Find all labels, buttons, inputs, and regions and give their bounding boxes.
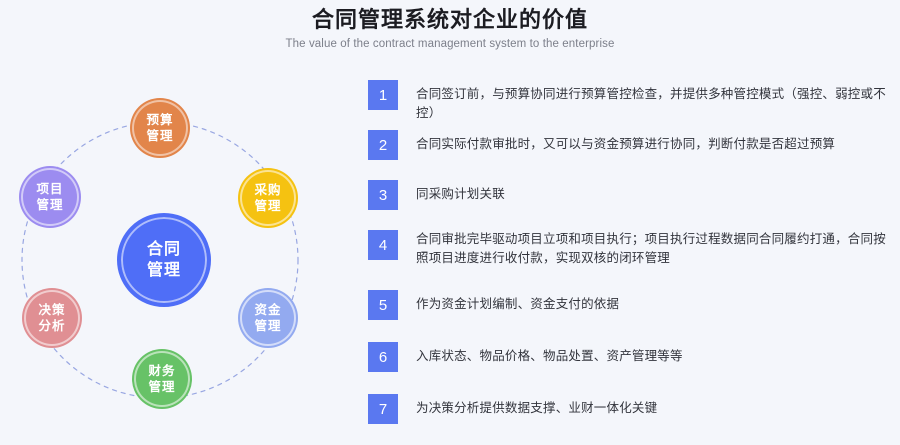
- item-description: 入库状态、物品价格、物品处置、资产管理等等: [416, 342, 683, 366]
- node-label-line1: 资金: [254, 302, 281, 318]
- node-label-line1: 决策: [38, 302, 65, 318]
- item-number-badge: 6: [368, 342, 398, 372]
- item-description: 合同签订前，与预算协同进行预算管控检查，并提供多种管控模式（强控、弱控或不控）: [416, 80, 886, 123]
- item-number-badge: 4: [368, 230, 398, 260]
- item-description: 作为资金计划编制、资金支付的依据: [416, 290, 619, 314]
- item-number-badge: 5: [368, 290, 398, 320]
- list-item[interactable]: 1 合同签订前，与预算协同进行预算管控检查，并提供多种管控模式（强控、弱控或不控…: [368, 80, 888, 123]
- node-funds-management[interactable]: 资金 管理: [240, 290, 296, 346]
- item-description: 同采购计划关联: [416, 180, 505, 204]
- node-label-line2: 管理: [146, 128, 173, 144]
- item-description: 合同实际付款审批时，又可以与资金预算进行协同，判断付款是否超过预算: [416, 130, 835, 154]
- node-label-line2: 管理: [254, 318, 281, 334]
- list-item[interactable]: 5 作为资金计划编制、资金支付的依据: [368, 290, 888, 320]
- node-purchase-management[interactable]: 采购 管理: [240, 170, 296, 226]
- circular-diagram: 项目 管理 预算 管理 采购 管理 资金 管理 财务 管理 决策 分析 合同 管…: [0, 78, 340, 445]
- item-number-badge: 3: [368, 180, 398, 210]
- page-subtitle: The value of the contract management sys…: [0, 33, 900, 51]
- node-decision-analysis[interactable]: 决策 分析: [24, 290, 80, 346]
- list-item[interactable]: 4 合同审批完毕驱动项目立项和项目执行；项目执行过程数据同合同履约打通，合同按照…: [368, 230, 888, 268]
- list-item[interactable]: 6 入库状态、物品价格、物品处置、资产管理等等: [368, 342, 888, 372]
- list-item[interactable]: 2 合同实际付款审批时，又可以与资金预算进行协同，判断付款是否超过预算: [368, 130, 888, 160]
- page-title: 合同管理系统对企业的价值: [0, 0, 900, 33]
- node-label-line1: 财务: [148, 363, 175, 379]
- node-label-line1: 采购: [254, 182, 281, 198]
- node-label-line2: 管理: [148, 379, 175, 395]
- item-number-badge: 7: [368, 394, 398, 424]
- node-label-line1: 合同: [147, 239, 181, 260]
- node-contract-management-center[interactable]: 合同 管理: [117, 213, 211, 307]
- list-item[interactable]: 3 同采购计划关联: [368, 180, 888, 210]
- node-label-line1: 项目: [36, 181, 63, 197]
- list-item[interactable]: 7 为决策分析提供数据支撑、业财一体化关键: [368, 394, 888, 424]
- node-project-management[interactable]: 项目 管理: [21, 168, 79, 226]
- item-number-badge: 2: [368, 130, 398, 160]
- item-description: 合同审批完毕驱动项目立项和项目执行；项目执行过程数据同合同履约打通，合同按照项目…: [416, 230, 886, 268]
- node-label-line2: 分析: [38, 318, 65, 334]
- page-header: 合同管理系统对企业的价值 The value of the contract m…: [0, 0, 900, 60]
- node-finance-management[interactable]: 财务 管理: [134, 351, 190, 407]
- node-budget-management[interactable]: 预算 管理: [132, 100, 188, 156]
- node-label-line2: 管理: [36, 197, 63, 213]
- node-label-line1: 预算: [146, 112, 173, 128]
- item-number-badge: 1: [368, 80, 398, 110]
- node-label-line2: 管理: [147, 260, 181, 281]
- item-description: 为决策分析提供数据支撑、业财一体化关键: [416, 394, 657, 418]
- node-label-line2: 管理: [254, 198, 281, 214]
